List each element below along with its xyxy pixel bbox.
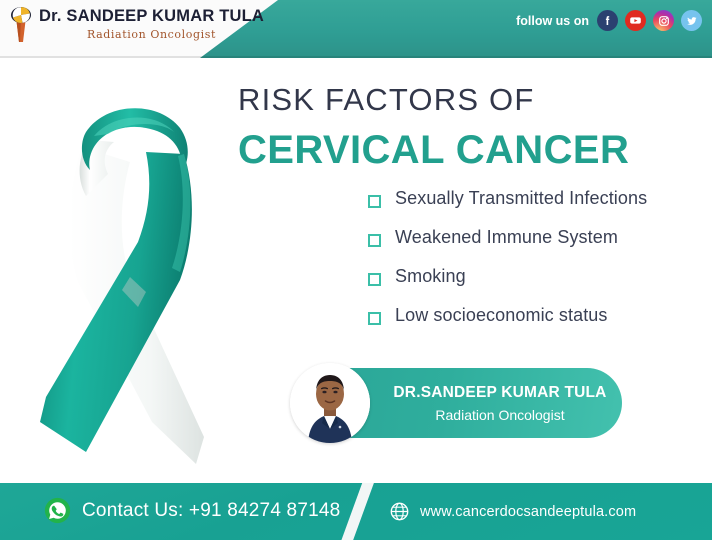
doctor-badge-text: DR.SANDEEP KUMAR TULA Radiation Oncologi… (388, 384, 612, 423)
bullet-square-icon (368, 195, 381, 208)
whatsapp-icon (44, 497, 71, 524)
bullet-square-icon (368, 312, 381, 325)
twitter-icon[interactable] (681, 10, 702, 31)
risk-factor-label: Sexually Transmitted Infections (395, 188, 647, 209)
youtube-icon[interactable] (625, 10, 646, 31)
follow-us-label: follow us on (516, 14, 589, 28)
contact-group[interactable]: Contact Us: +91 84274 87148 (44, 497, 340, 524)
headline-line-1: RISK FACTORS OF (238, 82, 534, 118)
risk-factor-label: Smoking (395, 266, 466, 287)
globe-icon (390, 502, 409, 521)
doctor-portrait (290, 363, 370, 443)
bullet-square-icon (368, 234, 381, 247)
doctor-role: Radiation Oncologist (388, 407, 612, 423)
website-group[interactable]: www.cancerdocsandeeptula.com (390, 502, 636, 521)
facebook-icon[interactable] (597, 10, 618, 31)
list-item: Sexually Transmitted Infections (368, 188, 698, 227)
risk-factor-label: Low socioeconomic status (395, 305, 608, 326)
header-bar: Dr. SANDEEP KUMAR TULA Radiation Oncolog… (0, 0, 712, 58)
footer-divider (338, 483, 378, 540)
contact-label: Contact Us: +91 84274 87148 (82, 500, 340, 522)
ribbon-torch-logo-icon (8, 4, 34, 44)
list-item: Weakened Immune System (368, 227, 698, 266)
brand-logo[interactable]: Dr. SANDEEP KUMAR TULA Radiation Oncolog… (8, 4, 264, 44)
doctor-badge: DR.SANDEEP KUMAR TULA Radiation Oncologi… (300, 368, 622, 438)
header-bottom-edge (0, 56, 712, 58)
list-item: Low socioeconomic status (368, 305, 698, 344)
follow-us-group: follow us on (516, 10, 702, 31)
cervical-cancer-awareness-ribbon (34, 92, 234, 482)
website-label: www.cancerdocsandeeptula.com (420, 504, 636, 520)
footer-bar: Contact Us: +91 84274 87148 www.cancerdo… (0, 483, 712, 540)
brand-subtitle: Radiation Oncologist (39, 29, 264, 40)
brand-logo-text: Dr. SANDEEP KUMAR TULA Radiation Oncolog… (39, 8, 264, 40)
headline-line-2: CERVICAL CANCER (238, 128, 629, 173)
poster-canvas: Dr. SANDEEP KUMAR TULA Radiation Oncolog… (0, 0, 712, 540)
brand-name: Dr. SANDEEP KUMAR TULA (39, 8, 264, 25)
risk-factor-list: Sexually Transmitted Infections Weakened… (368, 188, 698, 344)
bullet-square-icon (368, 273, 381, 286)
risk-factor-label: Weakened Immune System (395, 227, 618, 248)
doctor-name: DR.SANDEEP KUMAR TULA (388, 384, 612, 402)
list-item: Smoking (368, 266, 698, 305)
instagram-icon[interactable] (653, 10, 674, 31)
